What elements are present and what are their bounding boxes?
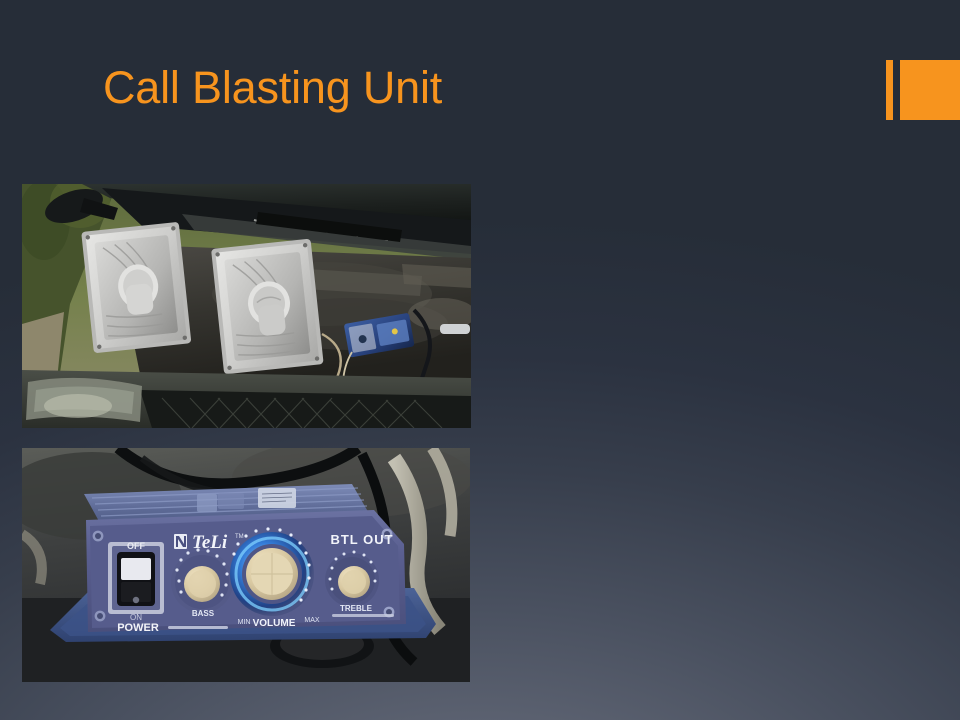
page-title: Call Blasting Unit [103, 61, 843, 115]
photo-horn-speakers-engine-bay [22, 184, 471, 428]
accent-bar-decoration [886, 60, 893, 120]
svg-text:OFF: OFF [127, 541, 145, 551]
photo-horn-speakers-image [22, 184, 471, 428]
accent-block-decoration [900, 60, 960, 120]
svg-text:BASS: BASS [192, 609, 215, 618]
svg-text:POWER: POWER [117, 622, 159, 634]
photo-teli-amplifier: OFF ON POWER TeLi TM [22, 448, 470, 682]
photo-teli-amplifier-image: OFF ON POWER TeLi TM [22, 448, 470, 682]
svg-text:MIN: MIN [238, 619, 251, 626]
slide-canvas: Call Blasting Unit [0, 0, 960, 720]
svg-text:ON: ON [130, 613, 142, 622]
svg-text:MAX: MAX [304, 617, 320, 624]
svg-text:TREBLE: TREBLE [340, 604, 373, 613]
svg-text:TM: TM [235, 534, 244, 540]
svg-text:BTL OUT: BTL OUT [330, 532, 393, 547]
svg-text:VOLUME: VOLUME [253, 618, 296, 629]
